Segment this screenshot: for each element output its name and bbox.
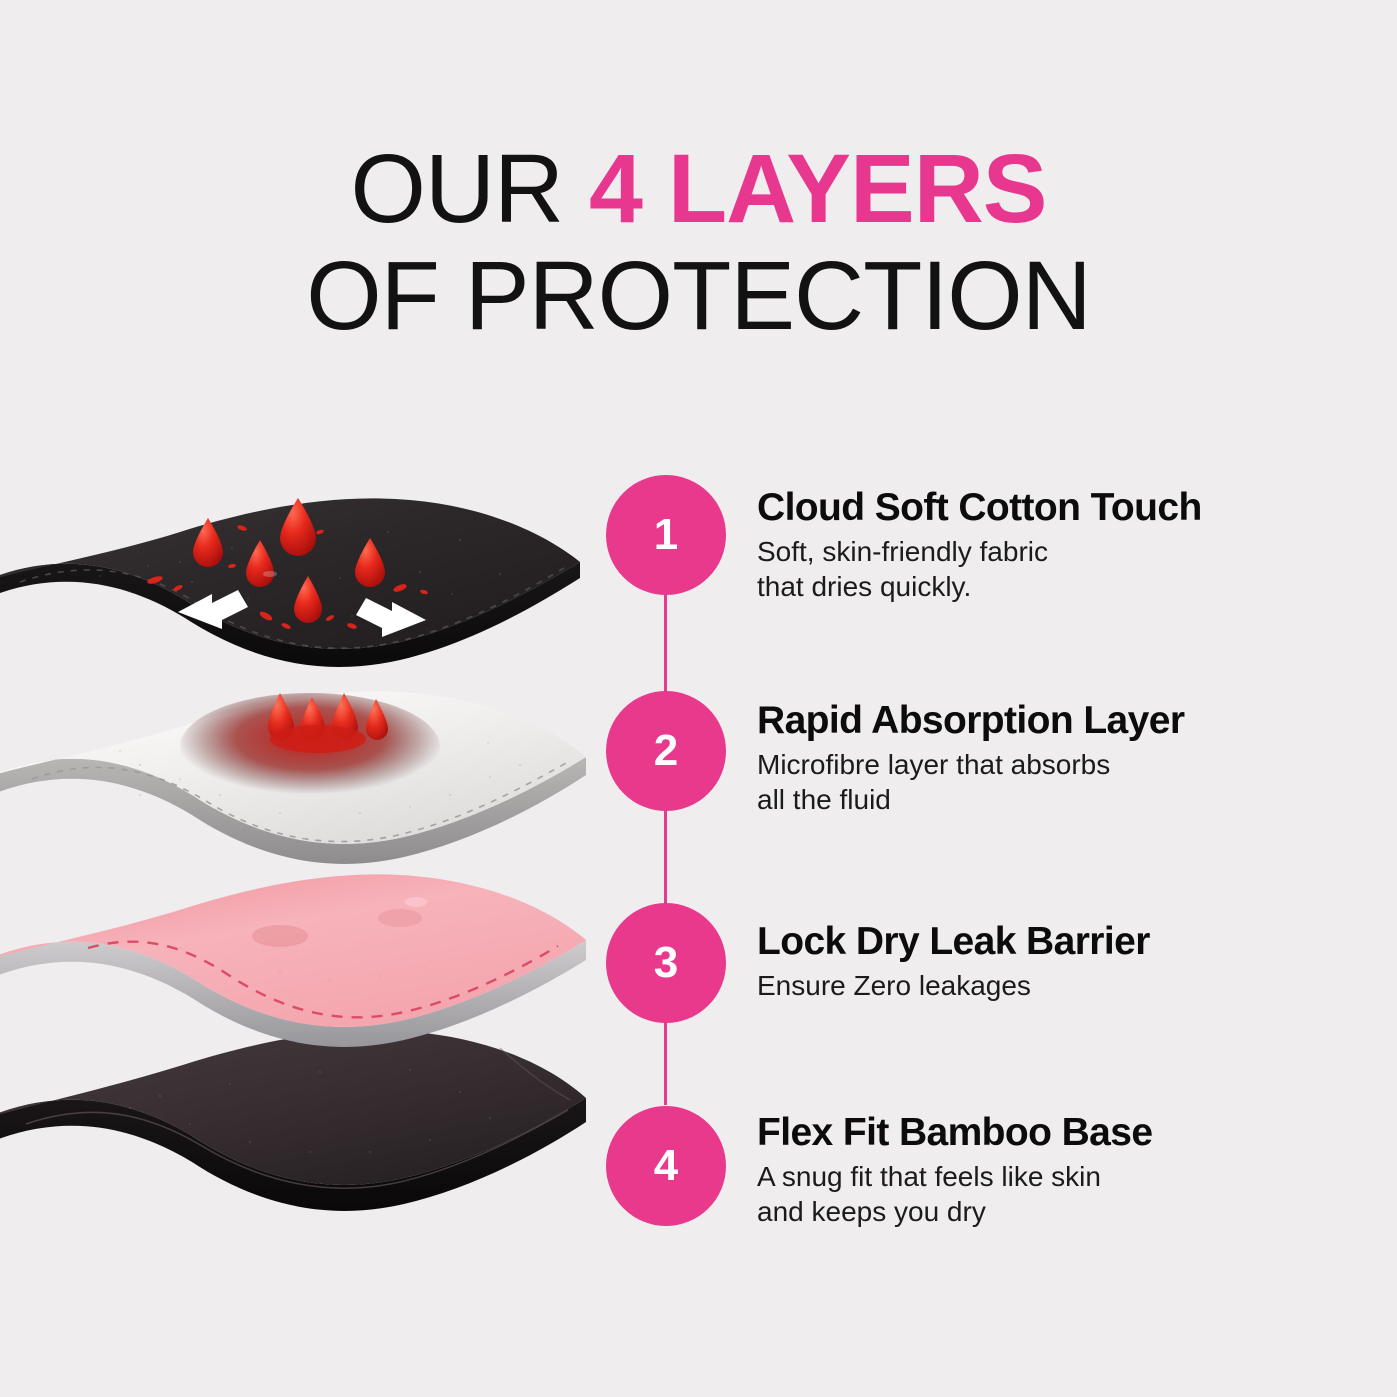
title-plain: OUR (351, 134, 590, 243)
step-text-3: Lock Dry Leak Barrier Ensure Zero leakag… (757, 921, 1357, 1003)
step-desc-2: Microfibre layer that absorbs all the fl… (757, 747, 1357, 818)
step-text-4: Flex Fit Bamboo Base A snug fit that fee… (757, 1112, 1357, 1230)
step-title-4: Flex Fit Bamboo Base (757, 1112, 1357, 1154)
title-line-2: OF PROTECTION (0, 247, 1397, 346)
step-desc-1: Soft, skin-friendly fabric that dries qu… (757, 534, 1357, 605)
step-badge-2[interactable]: 2 (606, 691, 726, 811)
page-title: OUR 4 LAYERS OF PROTECTION (0, 140, 1397, 346)
step-title-1: Cloud Soft Cotton Touch (757, 487, 1357, 529)
step-text-1: Cloud Soft Cotton Touch Soft, skin-frien… (757, 487, 1357, 605)
title-line-1: OUR 4 LAYERS (0, 140, 1397, 239)
layer-top-sheet-black-fabric (0, 470, 600, 730)
title-accent: 4 LAYERS (589, 134, 1046, 243)
step-badge-1[interactable]: 1 (606, 475, 726, 595)
step-desc-4: A snug fit that feels like skin and keep… (757, 1159, 1357, 1230)
step-badge-3[interactable]: 3 (606, 903, 726, 1023)
step-badge-4[interactable]: 4 (606, 1106, 726, 1226)
step-desc-3: Ensure Zero leakages (757, 968, 1357, 1003)
step-title-3: Lock Dry Leak Barrier (757, 921, 1357, 963)
connector-line-3-4 (664, 1020, 667, 1105)
step-title-2: Rapid Absorption Layer (757, 700, 1357, 742)
product-layers-illustration (0, 470, 620, 1210)
step-text-2: Rapid Absorption Layer Microfibre layer … (757, 700, 1357, 818)
